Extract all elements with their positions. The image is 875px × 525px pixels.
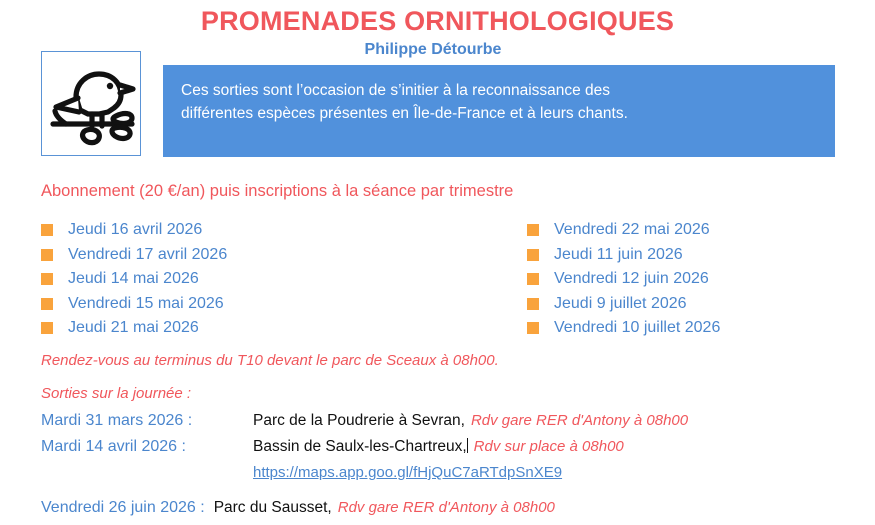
outing-rdv: Rdv gare RER d'Antony à 08h00: [471, 412, 688, 429]
date-label: Jeudi 9 juillet 2026: [554, 295, 687, 313]
outing-place: Parc de la Poudrerie à Sevran,: [253, 412, 465, 430]
outing-place: Parc du Sausset,: [214, 499, 332, 517]
date-label: Vendredi 15 mai 2026: [68, 295, 224, 313]
square-bullet-icon: [527, 224, 539, 236]
square-bullet-icon: [41, 249, 53, 261]
date-list-left: Jeudi 16 avril 2026 Vendredi 17 avril 20…: [41, 218, 227, 341]
list-item: Jeudi 14 mai 2026: [41, 267, 227, 292]
date-label: Jeudi 21 mai 2026: [68, 319, 199, 337]
list-item: Jeudi 16 avril 2026: [41, 218, 227, 243]
outing-rdv: Rdv sur place à 08h00: [474, 438, 624, 455]
subscription-info: Abonnement (20 €/an) puis inscriptions à…: [41, 182, 513, 201]
square-bullet-icon: [41, 298, 53, 310]
date-label: Jeudi 14 mai 2026: [68, 270, 199, 288]
list-item: Jeudi 9 juillet 2026: [527, 292, 720, 317]
outing-row: Vendredi 26 juin 2026 : Parc du Sausset,…: [41, 499, 841, 525]
date-label: Vendredi 17 avril 2026: [68, 246, 227, 264]
outing-date: Mardi 14 avril 2026 :: [41, 438, 253, 456]
intro-banner-text: Ces sorties sont l’occasion de s’initier…: [181, 79, 821, 125]
date-list-right: Vendredi 22 mai 2026 Jeudi 11 juin 2026 …: [527, 218, 720, 341]
list-item: Jeudi 11 juin 2026: [527, 243, 720, 268]
outing-row: Mardi 31 mars 2026 : Parc de la Poudreri…: [41, 412, 841, 438]
date-label: Vendredi 12 juin 2026: [554, 270, 709, 288]
page-title: PROMENADES ORNITHOLOGIQUES: [0, 6, 875, 37]
map-link[interactable]: https://maps.app.goo.gl/fHjQuC7aRTdpSnXE…: [253, 464, 562, 490]
list-item: Vendredi 17 avril 2026: [41, 243, 227, 268]
intro-line-1: Ces sorties sont l’occasion de s’initier…: [181, 82, 610, 99]
square-bullet-icon: [41, 322, 53, 334]
day-outings-heading: Sorties sur la journée :: [41, 385, 191, 402]
text-cursor: [467, 438, 468, 453]
square-bullet-icon: [41, 224, 53, 236]
list-item: Vendredi 15 mai 2026: [41, 292, 227, 317]
date-label: Vendredi 22 mai 2026: [554, 221, 710, 239]
square-bullet-icon: [527, 249, 539, 261]
list-item: Vendredi 22 mai 2026: [527, 218, 720, 243]
intro-line-2: différentes espèces présentes en Île-de-…: [181, 105, 628, 122]
square-bullet-icon: [41, 273, 53, 285]
bird-on-branch-icon: [42, 52, 140, 154]
outing-rdv: Rdv gare RER d'Antony à 08h00: [338, 499, 555, 516]
outing-link-row: https://maps.app.goo.gl/fHjQuC7aRTdpSnXE…: [41, 464, 841, 490]
outing-place: Bassin de Saulx-les-Chartreux,: [253, 438, 468, 456]
date-label: Jeudi 11 juin 2026: [554, 246, 683, 264]
list-item: Jeudi 21 mai 2026: [41, 316, 227, 341]
date-label: Vendredi 10 juillet 2026: [554, 319, 720, 337]
list-item: Vendredi 12 juin 2026: [527, 267, 720, 292]
spacer: [41, 464, 253, 490]
square-bullet-icon: [527, 273, 539, 285]
outing-date: Mardi 31 mars 2026 :: [41, 412, 253, 430]
logo-box: [41, 51, 141, 156]
square-bullet-icon: [527, 298, 539, 310]
outing-row: Mardi 14 avril 2026 : Bassin de Saulx-le…: [41, 438, 841, 464]
meeting-point-note: Rendez-vous au terminus du T10 devant le…: [41, 352, 499, 369]
intro-banner: Ces sorties sont l’occasion de s’initier…: [163, 65, 835, 157]
outings-list: Mardi 31 mars 2026 : Parc de la Poudreri…: [41, 412, 841, 525]
list-item: Vendredi 10 juillet 2026: [527, 316, 720, 341]
outing-date: Vendredi 26 juin 2026 :: [41, 499, 205, 517]
date-label: Jeudi 16 avril 2026: [68, 221, 202, 239]
square-bullet-icon: [527, 322, 539, 334]
